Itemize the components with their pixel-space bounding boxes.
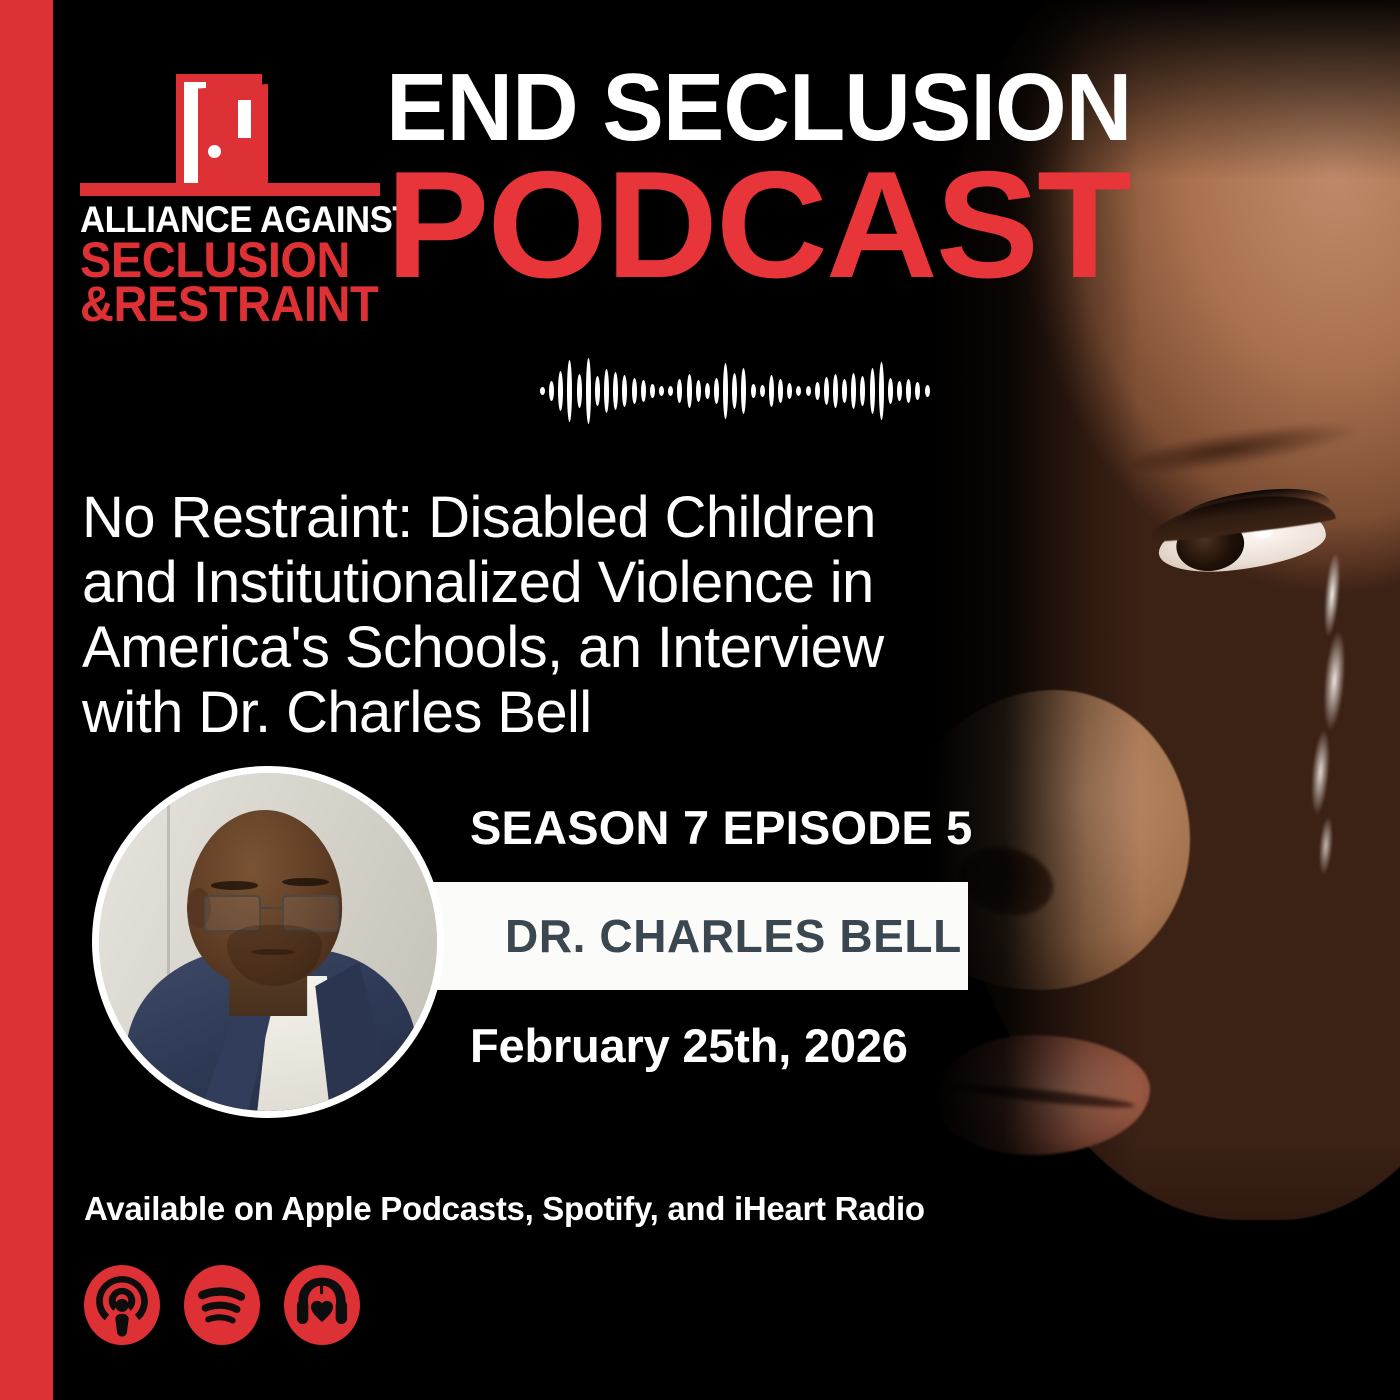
spotify-icon[interactable] — [184, 1265, 260, 1345]
guest-mouth — [251, 949, 295, 955]
waveform-bar — [549, 381, 554, 401]
guest-eyebrow-right — [282, 878, 329, 886]
waveform-bar — [906, 379, 911, 403]
open-door-icon — [80, 62, 380, 202]
waveform-bar — [558, 371, 563, 411]
episode-title: No Restraint: Disabled Children and Inst… — [82, 486, 932, 746]
door-knob — [208, 145, 221, 158]
waveform-bar — [696, 380, 701, 402]
logo-line-3: &RESTRAINT — [80, 280, 362, 329]
audio-waveform — [540, 352, 930, 430]
waveform-bar — [851, 373, 856, 409]
waveform-bar — [778, 379, 783, 403]
iheart-radio-icon[interactable] — [284, 1265, 360, 1345]
platform-icon-row — [84, 1265, 360, 1345]
waveform-bar — [741, 368, 746, 414]
waveform-bar — [888, 378, 893, 404]
waveform-bar — [641, 380, 646, 402]
season-episode-label: SEASON 7 EPISODE 5 — [470, 800, 973, 855]
left-red-stripe — [0, 0, 53, 1400]
waveform-bar — [815, 382, 820, 400]
show-title-line-2: PODCAST — [386, 157, 1233, 294]
waveform-bar — [796, 386, 801, 396]
guest-name: DR. CHARLES BELL — [505, 909, 962, 963]
guest-headshot-avatar — [92, 766, 444, 1118]
waveform-bar — [824, 377, 829, 405]
waveform-bar — [613, 372, 618, 410]
waveform-bar — [723, 363, 728, 419]
waveform-bar — [860, 376, 865, 406]
apple-podcasts-icon[interactable] — [84, 1265, 160, 1345]
podcast-cover-art: ALLIANCE AGAINST SECLUSION &RESTRAINT EN… — [0, 0, 1400, 1400]
waveform-bar — [677, 379, 682, 403]
waveform-bar — [659, 386, 664, 396]
waveform-bar — [833, 374, 838, 408]
release-date: February 25th, 2026 — [470, 1018, 908, 1073]
waveform-bar — [577, 374, 582, 408]
waveform-bar — [705, 383, 710, 399]
waveform-bar — [567, 360, 572, 422]
guest-eyebrow-left — [211, 881, 258, 889]
door-panel — [198, 84, 268, 196]
glasses-bridge — [261, 907, 283, 910]
organization-logo: ALLIANCE AGAINST SECLUSION &RESTRAINT — [80, 62, 380, 329]
waveform-bar — [787, 383, 792, 399]
waveform-bar — [714, 378, 719, 404]
waveform-bar — [751, 384, 756, 398]
door-window — [238, 100, 251, 138]
waveform-bar — [687, 374, 692, 408]
show-title: END SECLUSION PODCAST — [386, 62, 1216, 294]
waveform-bar — [540, 387, 545, 395]
waveform-bar — [769, 375, 774, 407]
waveform-bar — [925, 385, 930, 397]
waveform-bar — [870, 368, 875, 414]
waveform-bar — [732, 373, 737, 409]
waveform-bar — [668, 386, 673, 396]
waveform-bar — [879, 362, 884, 420]
photo-bottom-vignette — [840, 1140, 1400, 1400]
waveform-bar — [806, 386, 811, 396]
logo-baseline-rule — [80, 183, 380, 196]
waveform-bar — [632, 378, 637, 404]
waveform-bar — [760, 385, 765, 397]
availability-text: Available on Apple Podcasts, Spotify, an… — [84, 1190, 925, 1228]
waveform-bar — [915, 382, 920, 400]
waveform-bar — [897, 381, 902, 401]
waveform-bar — [622, 375, 627, 407]
waveform-bar — [604, 369, 609, 413]
waveform-bar — [586, 358, 591, 424]
waveform-bar — [842, 379, 847, 403]
waveform-bar — [650, 384, 655, 398]
waveform-bar — [595, 376, 600, 406]
